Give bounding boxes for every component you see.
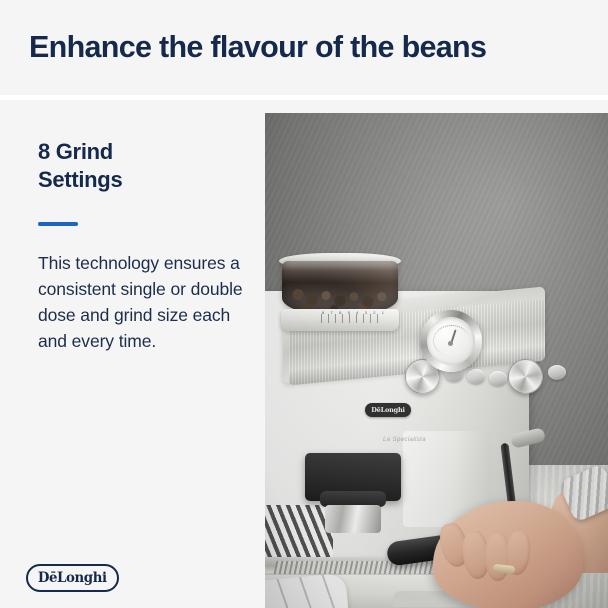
page-title: Enhance the flavour of the beans — [29, 27, 486, 67]
accent-divider — [38, 222, 78, 226]
double-shot-button — [467, 369, 485, 384]
feature-text-column: 8 Grind Settings This technology ensures… — [38, 138, 253, 354]
grind-setting-numbers: 8 7 6 5 4 3 2 1 — [322, 310, 384, 315]
pressure-gauge — [420, 310, 482, 372]
feature-description: This technology ensures a consistent sin… — [38, 250, 253, 354]
delonghi-logo-text: DēLonghi — [38, 571, 107, 585]
delonghi-logo: DēLonghi — [26, 564, 119, 592]
steam-button — [548, 365, 566, 380]
striped-towel — [265, 573, 349, 608]
brew-selector-knob — [508, 359, 543, 394]
feature-title-line-2: Settings — [38, 167, 122, 192]
grind-setting-scale — [321, 314, 383, 323]
manual-brew-button — [489, 371, 507, 386]
machine-brand-badge-text: DēLonghi — [371, 406, 405, 414]
banner-header: Enhance the flavour of the beans — [0, 0, 608, 95]
pressure-gauge-face — [427, 317, 475, 365]
feature-title-line-1: 8 Grind — [38, 139, 113, 164]
machine-model-label: La Specialista — [383, 437, 426, 443]
feature-title: 8 Grind Settings — [38, 138, 253, 194]
pressure-gauge-hub — [448, 341, 453, 346]
coffee-beans — [282, 261, 398, 315]
product-photo: 8 7 6 5 4 3 2 1 DēLonghi La Specialista — [265, 113, 608, 608]
bean-hopper — [282, 261, 398, 315]
promo-banner: Enhance the flavour of the beans 8 Grind… — [0, 0, 608, 608]
brew-group-chrome — [325, 505, 381, 533]
machine-brand-badge: DēLonghi — [365, 403, 411, 417]
